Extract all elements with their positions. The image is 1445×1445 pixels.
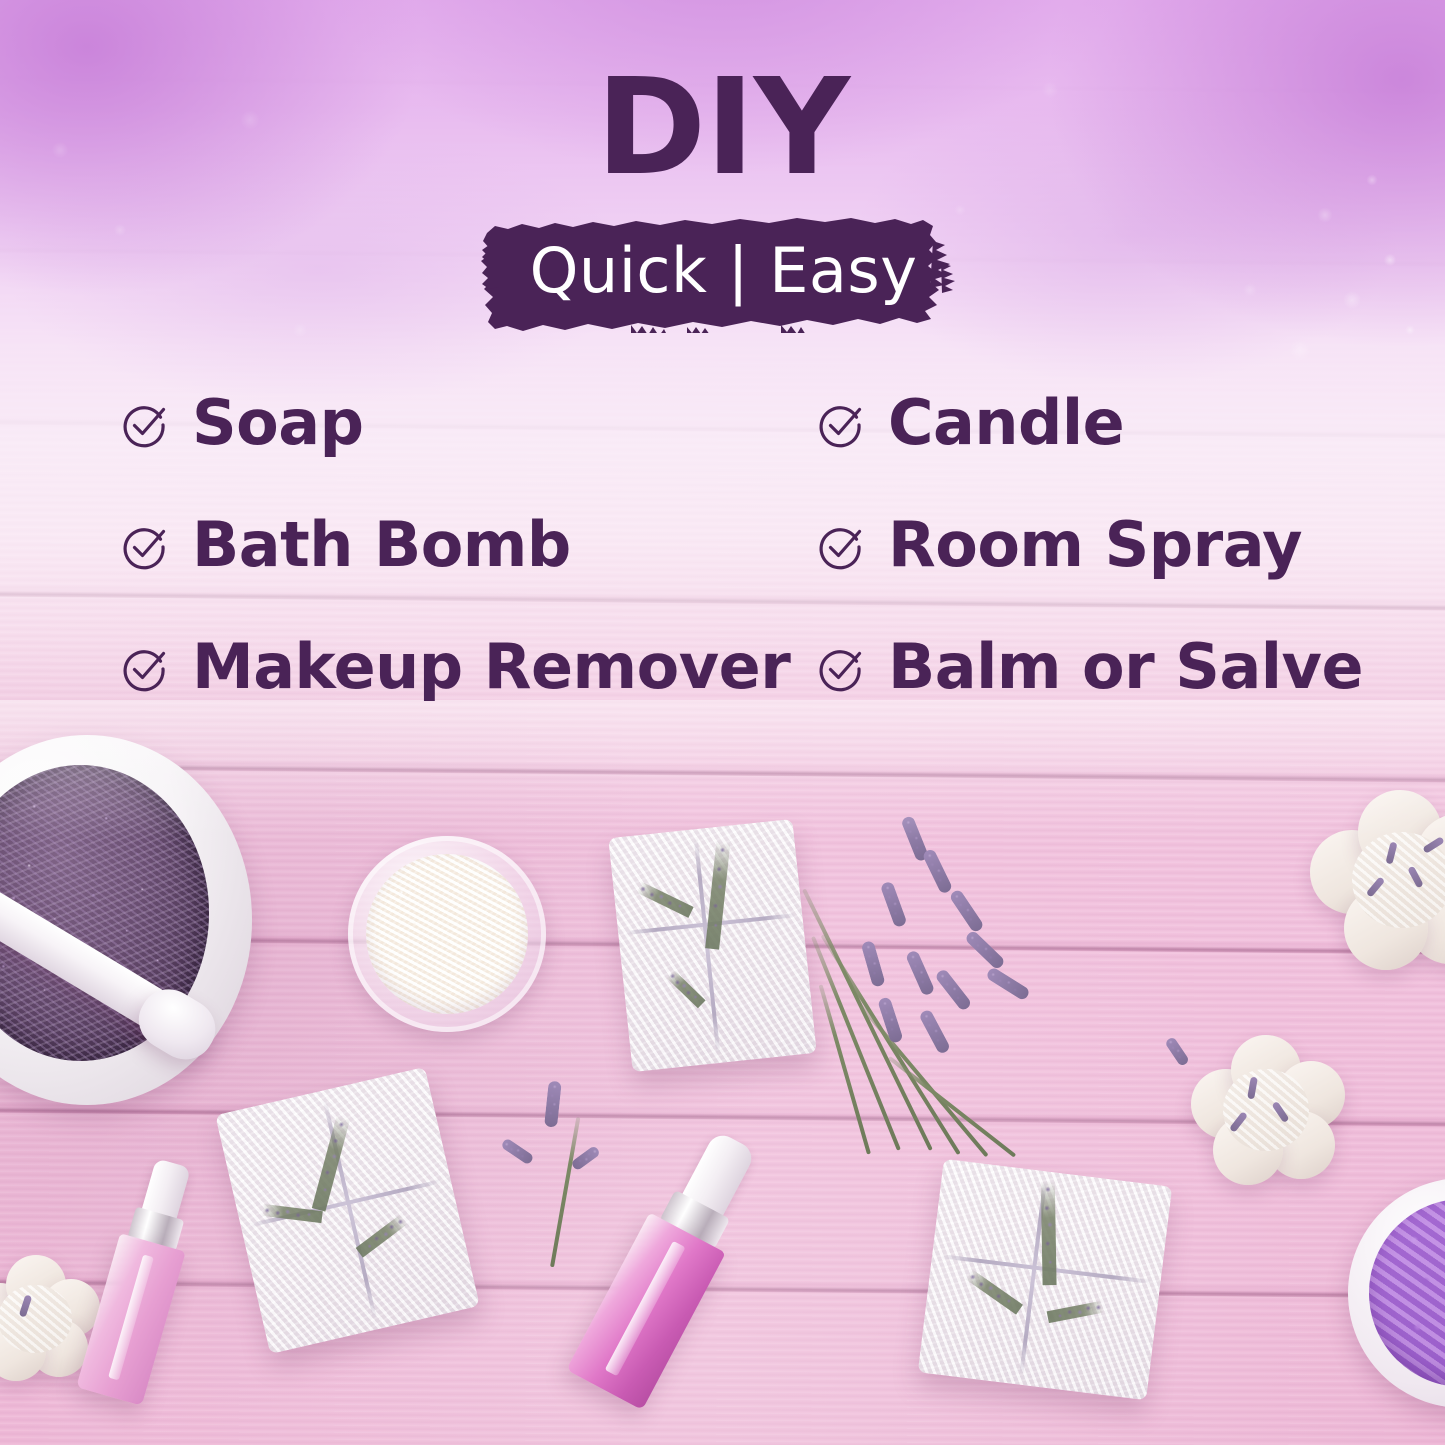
circle-check-icon: [818, 403, 862, 447]
circle-check-icon: [818, 647, 862, 691]
checklist-item-label: Bath Bomb: [192, 514, 571, 576]
lavender-bud: [880, 881, 908, 929]
lavender-bud: [964, 929, 1006, 970]
lavender-bud: [921, 848, 953, 895]
lavender-bud: [905, 949, 936, 996]
soap-bar-top: [608, 819, 817, 1072]
lavender-bud: [544, 1081, 562, 1128]
lavender-bud: [861, 940, 886, 988]
coconut-flakes-bowl: [348, 836, 546, 1032]
circle-check-icon: [122, 403, 166, 447]
bath-bomb-core: [0, 1285, 72, 1353]
checklist-item-label: Balm or Salve: [888, 636, 1363, 698]
lavender-bud: [877, 996, 904, 1044]
loose-lavender-sprig-center: [510, 1075, 600, 1275]
lavender-sprig: [965, 1269, 1023, 1314]
lavender-sprig: [666, 970, 705, 1008]
loose-lavender-bud-right: [1170, 1030, 1210, 1078]
lavender-sprig: [705, 841, 730, 950]
lavender-sprig: [1041, 1181, 1057, 1285]
checklist: Soap Bath Bomb Makeup: [0, 392, 1445, 722]
lavender-stem: [550, 1117, 580, 1267]
page-title: DIY: [0, 62, 1445, 195]
lavender-bud: [918, 1008, 951, 1055]
coconut-flakes: [366, 854, 528, 1015]
checklist-item-soap[interactable]: Soap: [122, 392, 363, 454]
checklist-item-label: Room Spray: [888, 514, 1302, 576]
lavender-sprig: [637, 881, 694, 917]
checklist-item-label: Candle: [888, 392, 1124, 454]
checklist-item-makeup-remover[interactable]: Makeup Remover: [122, 636, 790, 698]
circle-check-icon: [122, 525, 166, 569]
checklist-item-label: Makeup Remover: [192, 636, 790, 698]
checklist-item-room-spray[interactable]: Room Spray: [818, 514, 1302, 576]
circle-check-icon: [122, 647, 166, 691]
lavender-sprig: [1046, 1300, 1103, 1322]
soap-twine-vertical: [322, 1100, 377, 1321]
checklist-item-balm-or-salve[interactable]: Balm or Salve: [818, 636, 1363, 698]
checklist-item-label: Soap: [192, 392, 363, 454]
lavender-bud: [570, 1145, 601, 1172]
diy-lavender-poster: DIY Quick | Easy: [0, 0, 1445, 1445]
bath-bomb-core: [1223, 1069, 1309, 1151]
lavender-bud: [985, 966, 1031, 1001]
checklist-item-candle[interactable]: Candle: [818, 392, 1124, 454]
lavender-bud: [948, 888, 985, 933]
soap-bar-bottom: [918, 1159, 1172, 1400]
badge-label: Quick | Easy: [481, 215, 966, 333]
quick-easy-badge: Quick | Easy: [481, 215, 966, 333]
lavender-bud: [934, 968, 973, 1012]
circle-check-icon: [818, 525, 862, 569]
lavender-sprig: [356, 1215, 408, 1258]
checklist-item-bath-bomb[interactable]: Bath Bomb: [122, 514, 571, 576]
lavender-bouquet: [845, 800, 1105, 1160]
bath-salt-bowl: [1348, 1178, 1445, 1408]
